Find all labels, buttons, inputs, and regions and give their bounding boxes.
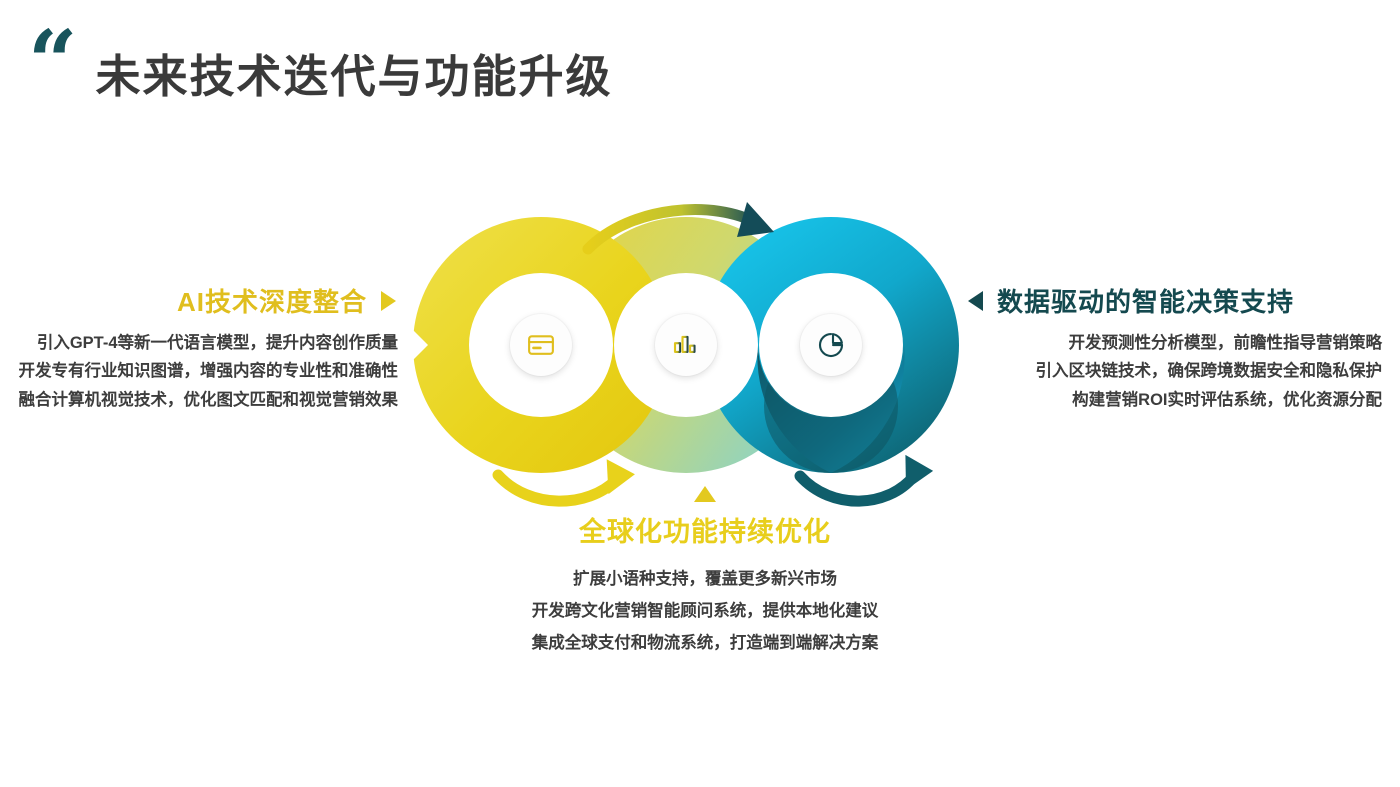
triangle-left-icon [968,291,983,311]
slide-canvas: “ 未来技术迭代与功能升级 [0,0,1400,787]
block-left-body: 引入GPT-4等新一代语言模型，提升内容创作质量 开发专有行业知识图谱，增强内容… [0,329,400,414]
pie-chart-icon [816,330,846,360]
bar-chart-icon [671,330,701,360]
block-right-line-3: 构建营销ROI实时评估系统，优化资源分配 [968,386,1382,414]
block-left-line-2: 开发专有行业知识图谱，增强内容的专业性和准确性 [0,357,398,385]
block-right-heading: 数据驱动的智能决策支持 [997,282,1294,319]
block-bottom-body: 扩展小语种支持，覆盖更多新兴市场 开发跨文化营销智能顾问系统，提供本地化建议 集… [440,563,970,660]
block-bottom-line-2: 开发跨文化营销智能顾问系统，提供本地化建议 [440,595,970,627]
block-bottom-heading-row: 全球化功能持续优化 [440,510,970,549]
credit-card-icon [526,330,556,360]
triangle-right-icon [381,291,396,311]
block-left-line-1: 引入GPT-4等新一代语言模型，提升内容创作质量 [0,329,398,357]
block-right-line-1: 开发预测性分析模型，前瞻性指导营销策略 [968,329,1382,357]
block-right-body: 开发预测性分析模型，前瞻性指导营销策略 引入区块链技术，确保跨境数据安全和隐私保… [968,329,1388,414]
block-right: 数据驱动的智能决策支持 开发预测性分析模型，前瞻性指导营销策略 引入区块链技术，… [968,282,1388,414]
block-left-heading: AI技术深度整合 [177,282,367,319]
node-pie-chart[interactable] [800,314,862,376]
triangle-up-icon [694,486,716,502]
block-left-line-3: 融合计算机视觉技术，优化图文匹配和视觉营销效果 [0,386,398,414]
infinity-rings-diagram [440,188,970,533]
block-bottom-heading: 全球化功能持续优化 [579,510,831,549]
block-right-line-2: 引入区块链技术，确保跨境数据安全和隐私保护 [968,357,1382,385]
page-title: 未来技术迭代与功能升级 [95,40,612,105]
block-left-heading-row: AI技术深度整合 [0,282,400,319]
block-bottom: 全球化功能持续优化 扩展小语种支持，覆盖更多新兴市场 开发跨文化营销智能顾问系统… [440,486,970,660]
block-right-heading-row: 数据驱动的智能决策支持 [968,282,1388,319]
slide-header: “ 未来技术迭代与功能升级 [28,28,612,105]
node-credit-card[interactable] [510,314,572,376]
block-bottom-line-3: 集成全球支付和物流系统，打造端到端解决方案 [440,627,970,659]
node-bar-chart[interactable] [655,314,717,376]
quote-mark-icon: “ [28,28,75,99]
block-bottom-line-1: 扩展小语种支持，覆盖更多新兴市场 [440,563,970,595]
block-left: AI技术深度整合 引入GPT-4等新一代语言模型，提升内容创作质量 开发专有行业… [0,282,400,414]
